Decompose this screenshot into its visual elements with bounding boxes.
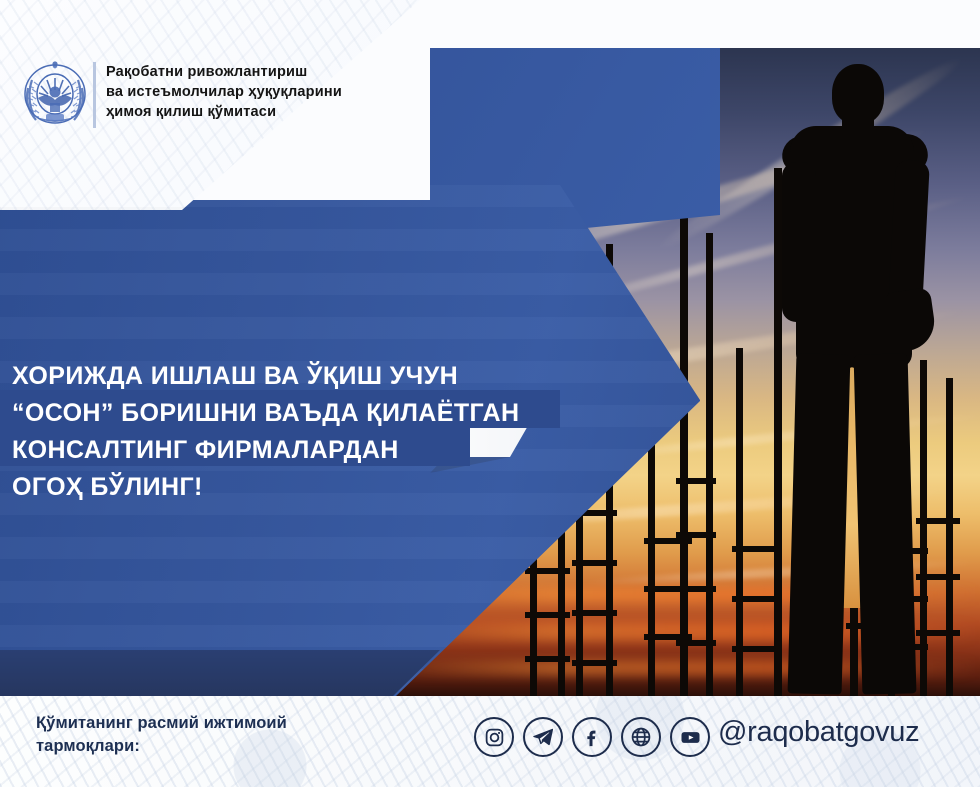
footer-label: Қўмитанинг расмий ижтимоий тармоқлари: (36, 712, 287, 759)
org-line-1: Рақобатни ривожлантириш (106, 62, 406, 82)
rebar-cage (676, 478, 716, 696)
headline-line-4: ОГОҲ БЎЛИНГ! (0, 469, 203, 506)
social-handle[interactable]: @raqobatgovuz (718, 716, 919, 749)
organization-name: Рақобатни ривожлантириш ва истеъмолчилар… (106, 62, 406, 122)
headline-line-3: КОНСАЛТИНГ ФИРМАЛАРДАН (0, 432, 399, 469)
headline: ХОРИЖДА ИШЛАШ ВА ЎҚИШ УЧУН “ОСОН” БОРИШН… (0, 358, 600, 506)
worker-silhouette (780, 58, 980, 696)
telegram-icon[interactable] (523, 717, 563, 757)
footer-label-line-2: тармоқлари: (36, 735, 287, 758)
poster-canvas: Рақобатни ривожлантириш ва истеъмолчилар… (0, 0, 980, 787)
uzbekistan-state-emblem-icon (20, 58, 90, 128)
rebar-cage (525, 568, 570, 696)
headline-text-3: КОНСАЛТИНГ ФИРМАЛАРДАН (12, 436, 399, 464)
org-line-2: ва истеъмолчилар ҳуқуқларини (106, 82, 406, 102)
headline-text-4: ОГОҲ БЎЛИНГ! (12, 473, 203, 501)
org-line-3: ҳимоя қилиш қўмитаси (106, 102, 406, 122)
headline-line-2: “ОСОН” БОРИШНИ ВАЪДА ҚИЛАЁТГАН (0, 395, 519, 432)
headline-text-2: “ОСОН” БОРИШНИ ВАЪДА ҚИЛАЁТГАН (12, 399, 519, 427)
social-links (474, 717, 710, 757)
youtube-icon[interactable] (670, 717, 710, 757)
instagram-icon[interactable] (474, 717, 514, 757)
headline-text-1: ХОРИЖДА ИШЛАШ ВА ЎҚИШ УЧУН (12, 362, 458, 390)
facebook-icon[interactable] (572, 717, 612, 757)
website-globe-icon[interactable] (621, 717, 661, 757)
rebar-cage (572, 510, 617, 696)
footer: Қўмитанинг расмий ижтимоий тармоқлари: (0, 696, 980, 787)
rebar-cage (732, 546, 780, 696)
headline-line-1: ХОРИЖДА ИШЛАШ ВА ЎҚИШ УЧУН (0, 358, 458, 395)
header-divider (93, 62, 96, 128)
footer-label-line-1: Қўмитанинг расмий ижтимоий (36, 712, 287, 735)
